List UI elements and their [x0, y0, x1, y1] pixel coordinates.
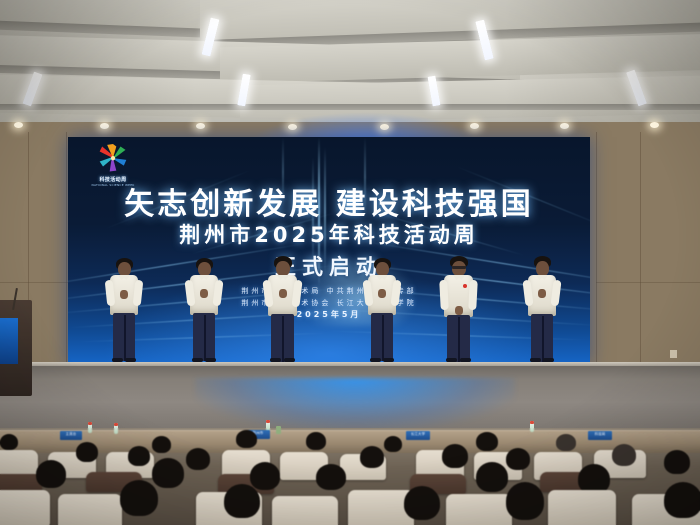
- led-display-screen: 科技活动周 NATIONAL SCIENCE WEEK 矢志创新发展 建设科技强…: [68, 137, 590, 365]
- downlight: [380, 124, 389, 130]
- audience-head: [186, 448, 210, 470]
- audience-head: [664, 450, 690, 474]
- auditorium-scene: 科技活动周 NATIONAL SCIENCE WEEK 矢志创新发展 建设科技强…: [0, 0, 700, 525]
- lapel-badge: [463, 284, 467, 288]
- downlight: [288, 124, 297, 130]
- audience-head: [664, 482, 700, 518]
- audience-head: [360, 446, 384, 468]
- audience-head: [612, 444, 636, 466]
- downlight: [196, 123, 205, 129]
- name-placard: 长江大学: [406, 431, 430, 440]
- name-placard: 主席台: [60, 431, 82, 440]
- audience-head: [250, 462, 280, 490]
- water-bottle: [114, 423, 118, 434]
- audience-head: [36, 460, 66, 488]
- audience-head: [0, 434, 18, 450]
- audience-head: [316, 464, 346, 490]
- audience-head: [152, 436, 171, 453]
- downlight: [560, 123, 569, 129]
- audience-head: [306, 432, 326, 450]
- screen-date: 2025年5月: [68, 309, 590, 320]
- screen-title-main: 矢志创新发展 建设科技强国: [68, 179, 590, 223]
- audience-head: [506, 482, 544, 520]
- downlight: [100, 123, 109, 129]
- audience-head: [476, 432, 498, 451]
- audience-head: [236, 430, 257, 448]
- ceiling: [0, 0, 700, 122]
- audience-chair: [446, 494, 512, 525]
- stage-reflection: [195, 378, 515, 430]
- downlight: [650, 122, 659, 128]
- audience-head: [556, 434, 576, 451]
- audience-head: [120, 480, 158, 516]
- water-bottle: [88, 422, 92, 433]
- audience-head: [152, 458, 184, 488]
- audience-head: [76, 442, 98, 462]
- audience-head: [476, 462, 508, 492]
- audience-head: [224, 484, 260, 518]
- audience-area: 主席台 荆州市 长江大学 科技局: [0, 428, 700, 525]
- audience-head: [404, 486, 440, 520]
- downlight: [14, 122, 23, 128]
- audience-chair: [272, 496, 338, 525]
- audience-chair: [0, 450, 38, 476]
- name-placard: 科技局: [588, 431, 612, 440]
- screen-launch-text: 正式启动: [68, 251, 590, 281]
- water-bottle: [530, 421, 534, 432]
- audience-chair: [0, 490, 50, 525]
- audience-head: [128, 446, 150, 466]
- tea-cup: [276, 426, 281, 434]
- screen-organizers-line2: 荆州市科学技术协会 长江大学物理学院: [68, 298, 590, 308]
- wall-outlet: [670, 350, 677, 358]
- science-week-logo-icon: [96, 144, 130, 174]
- audience-chair: [548, 490, 616, 525]
- downlight: [470, 123, 479, 129]
- audience-chair: [58, 494, 122, 525]
- glasses-icon: [452, 266, 466, 269]
- screen-title-sub: 荆州市2025年科技活动周: [68, 219, 590, 249]
- audience-head: [442, 444, 468, 468]
- lectern-screen: [0, 318, 18, 364]
- audience-head: [384, 436, 402, 452]
- audience-head: [506, 448, 530, 470]
- screen-organizers-line1: 荆州市科学技术局 中共荆州市委宣传部: [68, 286, 590, 296]
